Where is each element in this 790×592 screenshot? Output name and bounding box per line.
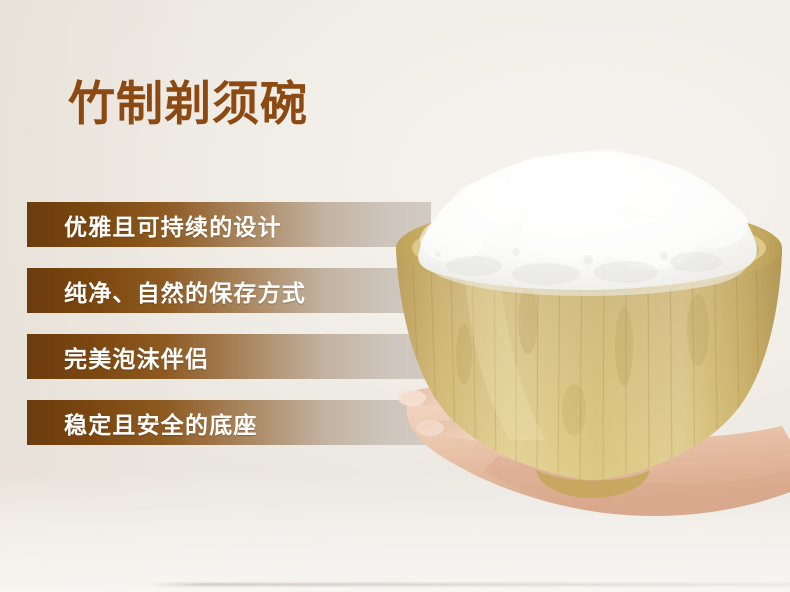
feature-bar-label: 纯净、自然的保存方式 xyxy=(64,274,306,308)
feature-bar: 稳定且安全的底座 xyxy=(27,400,431,445)
feature-bar-label: 稳定且安全的底座 xyxy=(64,406,258,440)
page-title: 竹制剃须碗 xyxy=(68,76,308,134)
feature-bar: 完美泡沫伴侣 xyxy=(27,334,431,379)
feature-bar: 纯净、自然的保存方式 xyxy=(27,268,431,313)
shaving-foam xyxy=(418,149,757,296)
feature-bar: 优雅且可持续的设计 xyxy=(27,202,431,247)
feature-bar-label: 完美泡沫伴侣 xyxy=(64,340,209,374)
feature-bar-label: 优雅且可持续的设计 xyxy=(64,208,282,242)
product-photo xyxy=(378,140,790,540)
product-poster: 竹制剃须碗 优雅且可持续的设计 纯净、自然的保存方式 完美泡沫伴侣 稳定且安全的… xyxy=(0,0,790,592)
